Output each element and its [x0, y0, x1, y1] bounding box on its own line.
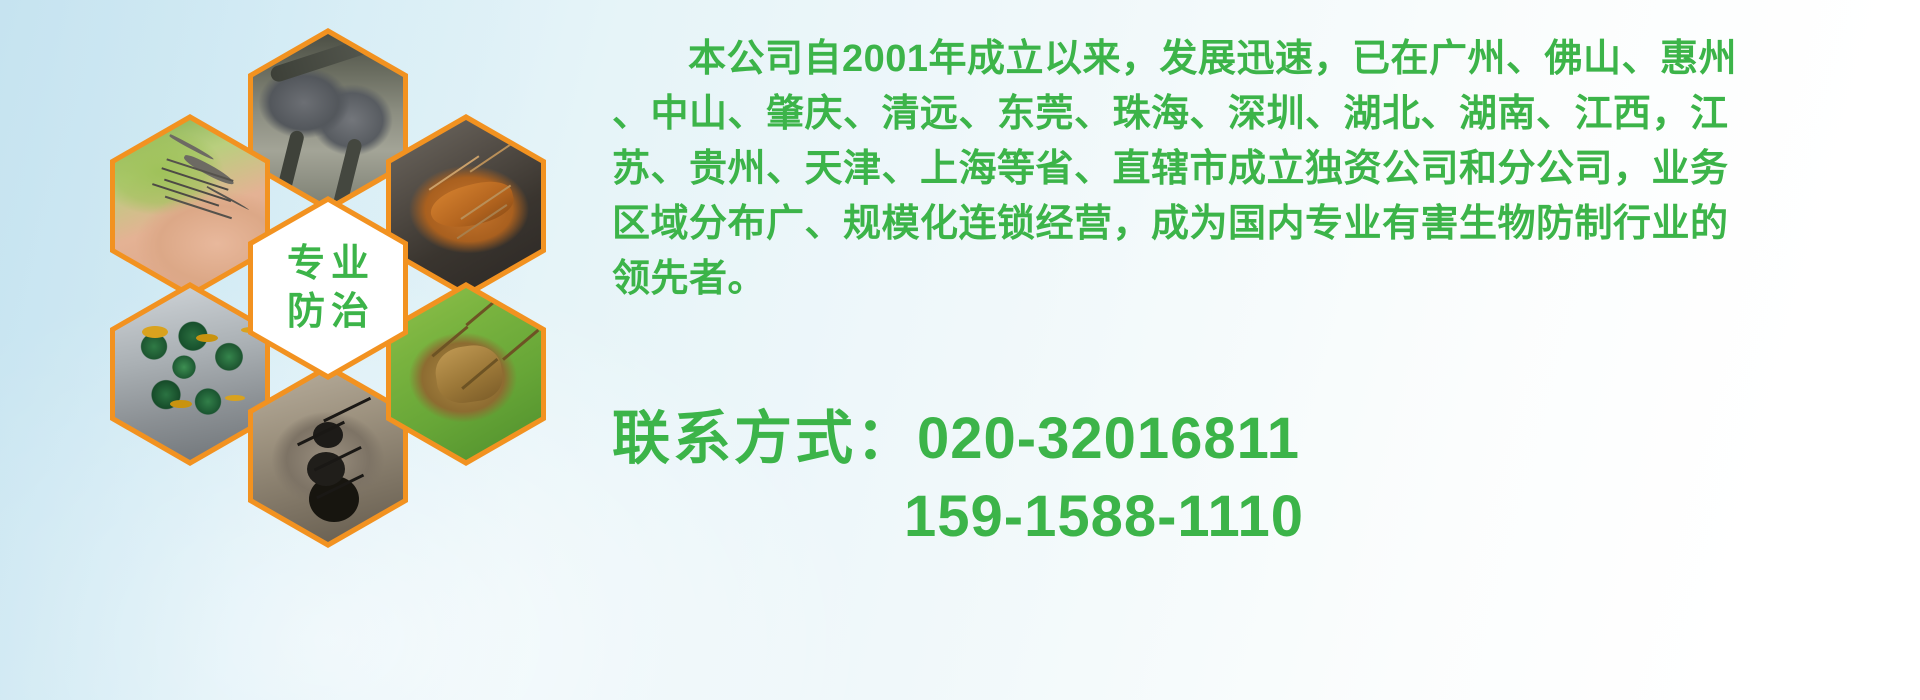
- badge-line-1: 专业: [281, 245, 375, 283]
- hex-photo-rats: [248, 28, 408, 212]
- phone-primary[interactable]: 020-32016811: [917, 406, 1300, 471]
- hex-photo-ant: [248, 364, 408, 548]
- intro-line-5: 领先者。: [612, 252, 1902, 307]
- contact-label: 联系方式：: [612, 406, 917, 471]
- stinkbug-photo: [391, 288, 541, 460]
- hex-photo-flies: [110, 282, 270, 466]
- badge-line-2: 防治: [281, 293, 375, 331]
- hex-inner: 专业 防治: [253, 202, 403, 374]
- hex-photo-cluster: 专业 防治: [88, 6, 588, 566]
- contact-primary-line: 联系方式：020-32016811: [612, 400, 1304, 478]
- hex-photo-stinkbug: [386, 282, 546, 466]
- hex-photo-mosquito: [110, 114, 270, 298]
- hex-inner: [391, 288, 541, 460]
- cockroach-photo: [391, 120, 541, 292]
- mosquito-photo: [115, 120, 265, 292]
- hex-badge-center: 专业 防治: [248, 196, 408, 380]
- ant-photo: [253, 370, 403, 542]
- hex-photo-cockroach: [386, 114, 546, 298]
- contact-secondary-line: 159-1588-1110: [612, 478, 1304, 556]
- company-intro: 本公司自2001年成立以来，发展迅速，已在广州、佛山、惠州 、中山、肇庆、清远、…: [612, 32, 1902, 307]
- hex-inner: [115, 288, 265, 460]
- fly-photo: [115, 288, 265, 460]
- rat-photo: [253, 34, 403, 206]
- phone-secondary[interactable]: 159-1588-1110: [904, 484, 1304, 549]
- intro-line-1: 本公司自2001年成立以来，发展迅速，已在广州、佛山、惠州: [612, 32, 1902, 87]
- intro-line-2: 、中山、肇庆、清远、东莞、珠海、深圳、湖北、湖南、江西，江: [612, 87, 1902, 142]
- hex-inner: [391, 120, 541, 292]
- contact-block: 联系方式：020-32016811 159-1588-1110: [612, 400, 1304, 556]
- hex-inner: [253, 370, 403, 542]
- intro-line-3: 苏、贵州、天津、上海等省、直辖市成立独资公司和分公司，业务: [612, 142, 1902, 197]
- hex-inner: [253, 34, 403, 206]
- badge-text: 专业 防治: [253, 202, 403, 374]
- promo-banner: 专业 防治 本公司自2001年成立以来，发展迅速，已在广州、佛山、惠州 、中山、…: [0, 0, 1920, 700]
- intro-line-4: 区域分布广、规模化连锁经营，成为国内专业有害生物防制行业的: [612, 197, 1902, 252]
- hex-inner: [115, 120, 265, 292]
